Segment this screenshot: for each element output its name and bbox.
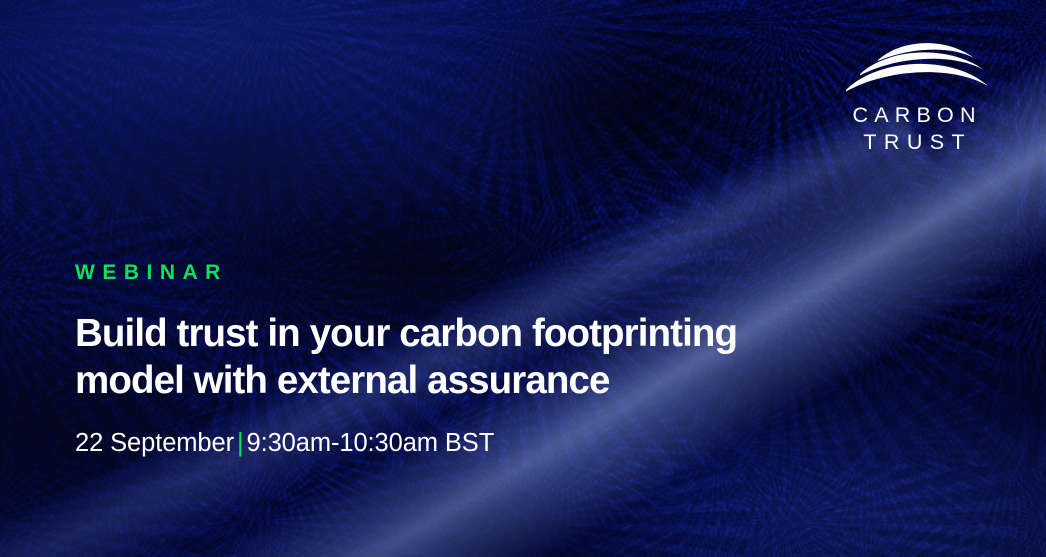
event-time: 9:30am-10:30am BST <box>247 429 495 457</box>
datetime-separator: | <box>234 429 247 457</box>
carbon-trust-logo: CARBON TRUST <box>838 34 990 156</box>
event-date: 22 September <box>75 429 234 457</box>
event-datetime: 22 September|9:30am-10:30am BST <box>75 428 895 459</box>
logo-wordmark-line2: TRUST <box>838 129 990 156</box>
logo-wordmark-line1: CARBON <box>838 102 990 129</box>
headline-line-1: Build trust in your carbon footprinting <box>75 312 737 355</box>
webinar-promo-banner: CARBON TRUST WEBINAR Build trust in your… <box>0 0 1046 557</box>
eyebrow-label: WEBINAR <box>75 262 895 283</box>
page-title: Build trust in your carbon footprinting … <box>75 311 865 404</box>
three-arcs-swoosh-icon <box>838 34 990 102</box>
banner-copy-block: WEBINAR Build trust in your carbon footp… <box>75 262 895 459</box>
headline-line-2: model with external assurance <box>75 358 865 405</box>
